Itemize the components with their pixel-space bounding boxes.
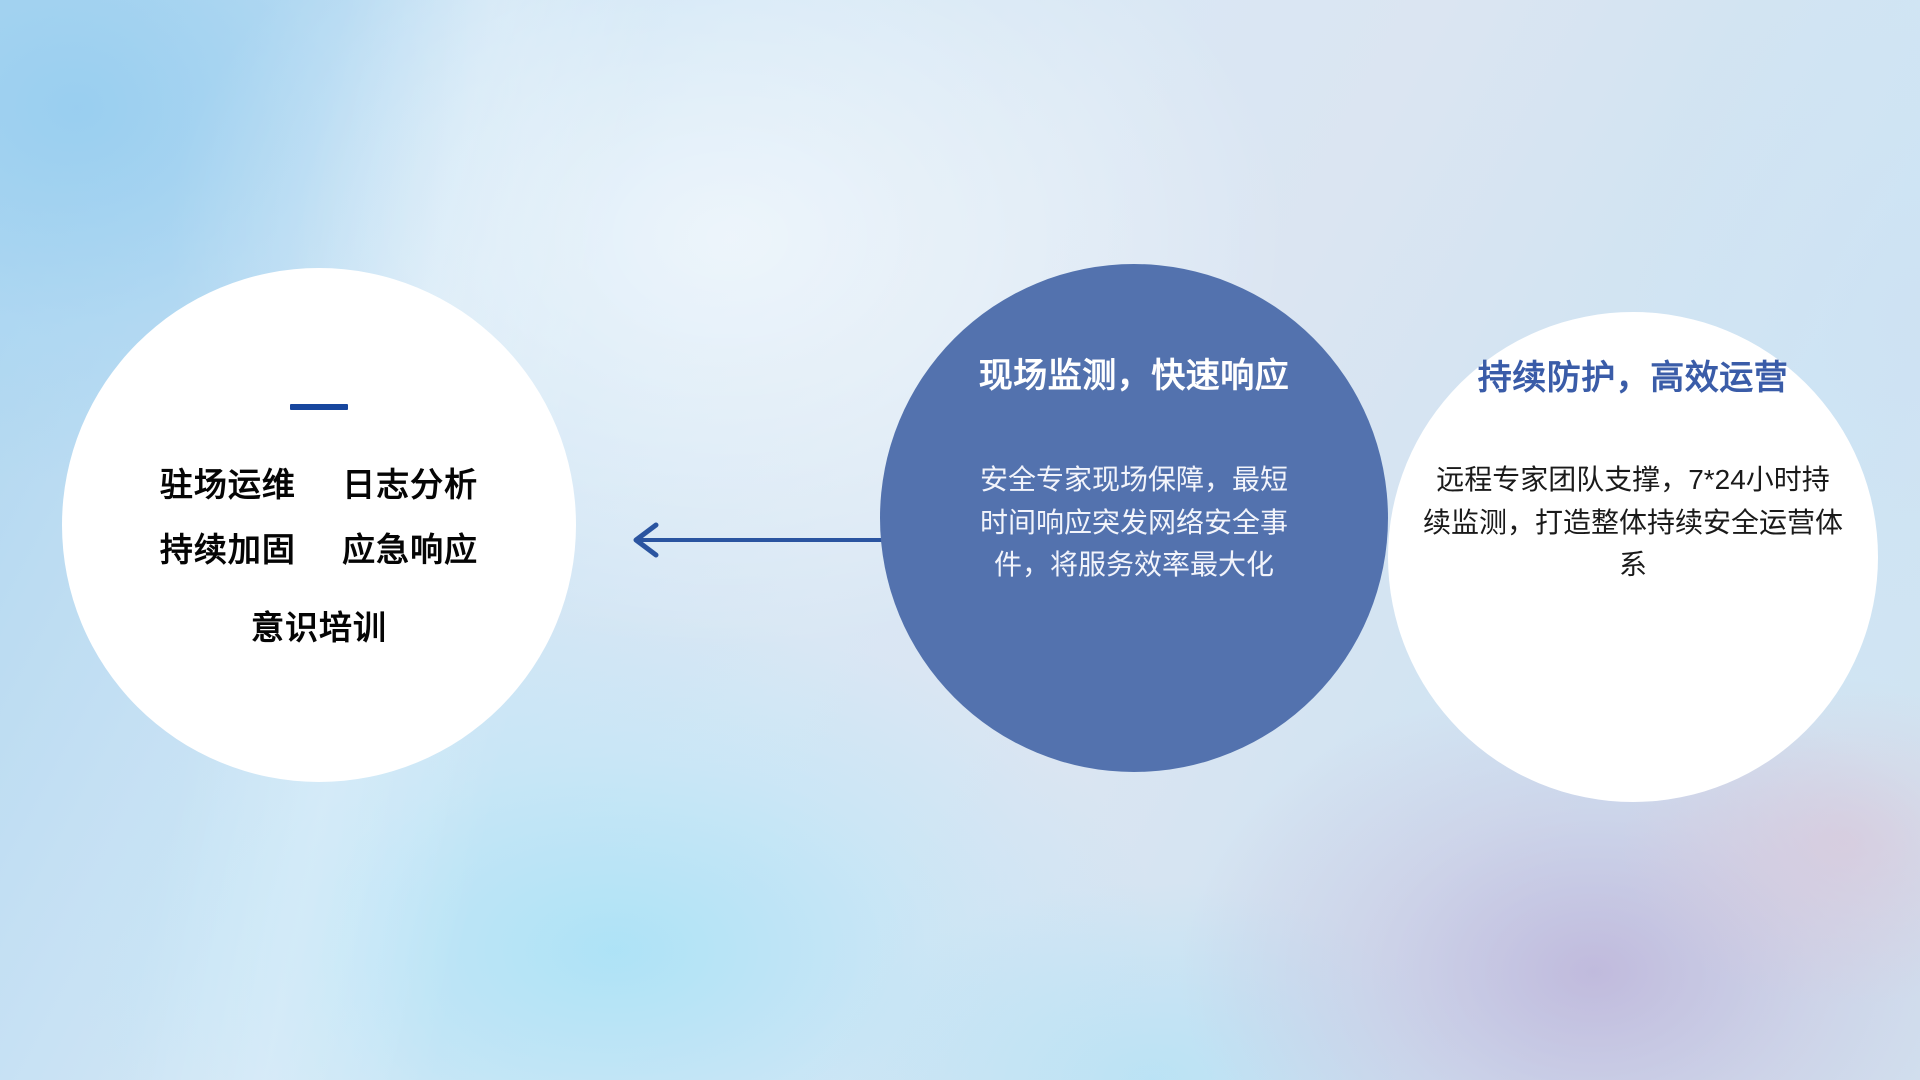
middle-card: 现场监测，快速响应 安全专家现场保障，最短时间响应突发网络安全事件，将服务效率最… <box>880 264 1388 772</box>
right-card-body: 远程专家团队支撑，7*24小时持续监测，打造整体持续安全运营体系 <box>1423 459 1843 587</box>
left-card-line-1: 驻场运维 日志分析 <box>160 468 478 503</box>
divider-dash-icon <box>290 404 348 410</box>
left-card-line-2: 持续加固 应急响应 <box>160 533 478 568</box>
left-item-rizhifenxi: 日志分析 <box>342 466 478 503</box>
left-item-yingjixiangying: 应急响应 <box>342 531 478 568</box>
right-card-title: 持续防护，高效运营 <box>1478 350 1789 399</box>
middle-card-body: 安全专家现场保障，最短时间响应突发网络安全事件，将服务效率最大化 <box>979 459 1289 587</box>
slide-canvas: 驻场运维 日志分析 持续加固 应急响应 意识培训 现场监测，快速响应 安全专家现… <box>0 0 1920 1080</box>
middle-card-title: 现场监测，快速响应 <box>979 348 1290 397</box>
left-card: 驻场运维 日志分析 持续加固 应急响应 意识培训 <box>62 268 576 782</box>
left-item-yishipeixun: 意识培训 <box>251 611 387 646</box>
left-item-chixujiagu: 持续加固 <box>160 531 296 568</box>
connector-arrow-left-icon <box>610 505 900 575</box>
left-item-zhuchangyunwei: 驻场运维 <box>160 466 296 503</box>
right-card: 持续防护，高效运营 远程专家团队支撑，7*24小时持续监测，打造整体持续安全运营… <box>1388 312 1878 802</box>
